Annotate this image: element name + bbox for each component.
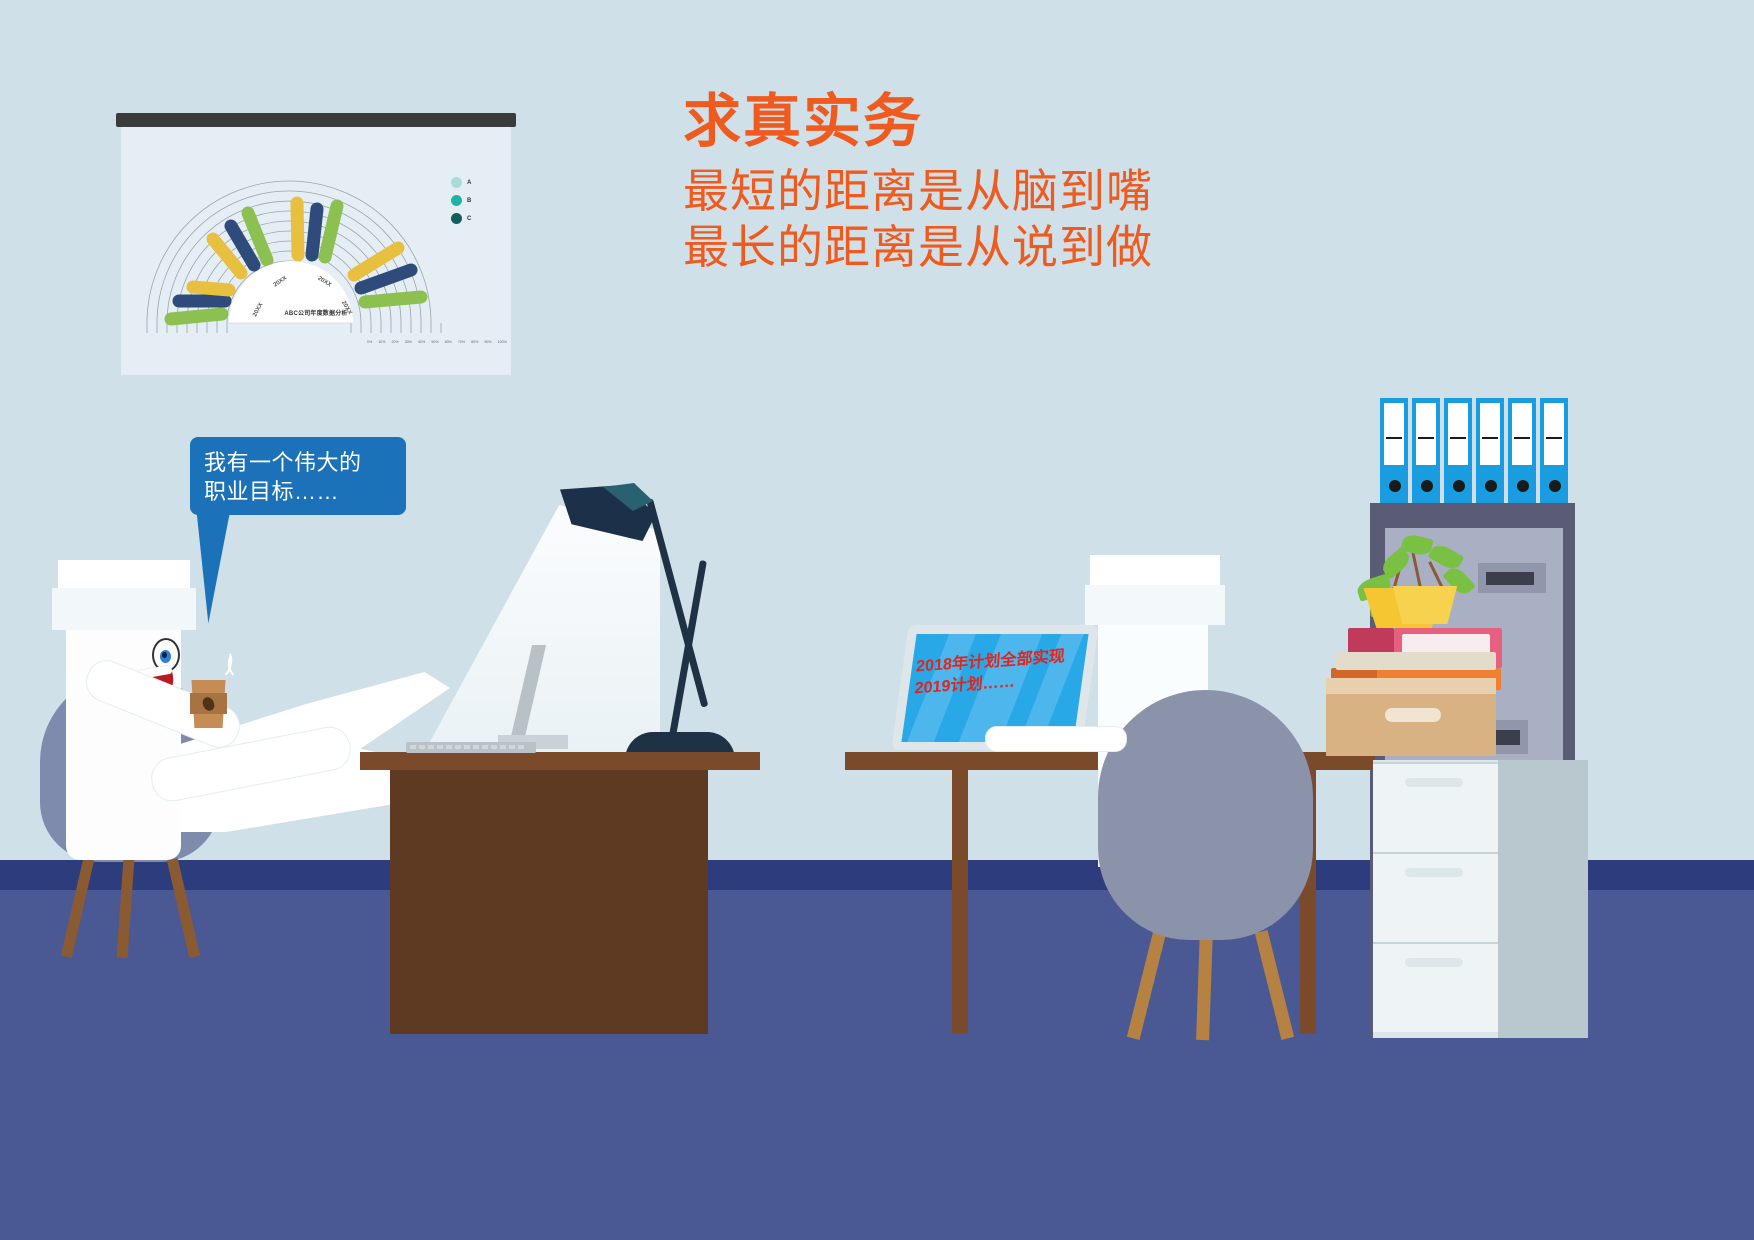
legend-label-b: B — [467, 198, 471, 204]
binder-5 — [1508, 398, 1536, 503]
low-cabinet-drawer-2[interactable] — [1373, 852, 1498, 942]
right-desk-leg-1 — [952, 770, 968, 1034]
axis-tick-7: 70% — [458, 340, 465, 344]
right-office-chair — [1098, 690, 1313, 940]
projection-screen-rail — [116, 113, 516, 127]
axis-tick-3: 30% — [405, 340, 412, 344]
axis-tick-4: 40% — [418, 340, 425, 344]
legend-item-a: A — [451, 177, 495, 188]
left-desk-body — [390, 770, 708, 1034]
low-cabinet-drawer-3[interactable] — [1373, 942, 1498, 1032]
right-character-cup-collar — [1085, 585, 1225, 625]
headline-subtitle-line-1: 最短的距离是从脑到嘴 — [683, 163, 1383, 219]
chart-axis-tick-labels: 0% 10% 20% 30% 40% 50% 60% 70% 80% 90% 1… — [367, 340, 507, 344]
chart-legend: A B C — [451, 177, 495, 231]
speech-line-1: 我有一个伟大的 — [204, 448, 399, 477]
projection-screen-surface: ABC公司年度数据分析 20XX 20XX 20XX 20XX A B — [121, 127, 511, 375]
axis-tick-9: 90% — [484, 340, 491, 344]
binder-4 — [1476, 398, 1504, 503]
binder-2 — [1412, 398, 1440, 503]
legend-swatch-c — [451, 213, 462, 224]
speech-line-2: 职业目标…… — [204, 477, 399, 506]
axis-tick-2: 20% — [392, 340, 399, 344]
legend-swatch-a — [451, 177, 462, 188]
left-desk-top — [360, 752, 760, 770]
speech-bubble-text: 我有一个伟大的 职业目标…… — [204, 448, 399, 506]
low-cabinet-drawer-1[interactable] — [1373, 762, 1498, 852]
headline-block: 求真实务 最短的距离是从脑到嘴 最长的距离是从说到做 — [683, 92, 1383, 275]
chart-title: ABC公司年度数据分析 — [284, 308, 347, 317]
axis-tick-5: 50% — [431, 340, 438, 344]
axis-tick-1: 10% — [378, 340, 385, 344]
legend-swatch-b — [451, 195, 462, 206]
cardboard-box-lid — [1326, 678, 1496, 694]
axis-tick-0: 0% — [367, 340, 372, 344]
binder-6 — [1540, 398, 1568, 503]
legend-item-c: C — [451, 213, 495, 224]
character-cup-collar — [52, 588, 196, 630]
radial-bar-chart: ABC公司年度数据分析 20XX 20XX 20XX 20XX A B — [121, 127, 511, 375]
headline-title: 求真实务 — [683, 92, 1383, 153]
axis-tick-6: 60% — [445, 340, 452, 344]
axis-tick-8: 80% — [471, 340, 478, 344]
office-scene-illustration: ABC公司年度数据分析 20XX 20XX 20XX 20XX A B — [0, 0, 1754, 1240]
radial-chart-svg — [121, 127, 511, 375]
speech-bubble: 我有一个伟大的 职业目标…… — [190, 437, 406, 515]
book-cream-pages — [1336, 652, 1496, 670]
chart-radial-ticks — [147, 323, 441, 333]
binder-3 — [1444, 398, 1472, 503]
right-character-cup-lid — [1090, 555, 1220, 585]
axis-tick-10: 100% — [498, 340, 507, 344]
legend-item-b: B — [451, 195, 495, 206]
right-laptop-keyboard-base — [985, 726, 1127, 752]
projection-screen: ABC公司年度数据分析 20XX 20XX 20XX 20XX A B — [116, 113, 516, 375]
keyboard — [406, 742, 536, 753]
legend-label-a: A — [467, 180, 471, 186]
character-pupil — [160, 650, 171, 663]
filing-cabinet-handle-upper — [1478, 563, 1546, 593]
binder-1 — [1380, 398, 1408, 503]
headline-subtitle-line-2: 最长的距离是从说到做 — [683, 219, 1383, 275]
cardboard-box-label — [1385, 708, 1441, 722]
character-cup-lid — [58, 560, 190, 588]
legend-label-c: C — [467, 216, 471, 222]
side-cabinet — [1498, 760, 1588, 1038]
